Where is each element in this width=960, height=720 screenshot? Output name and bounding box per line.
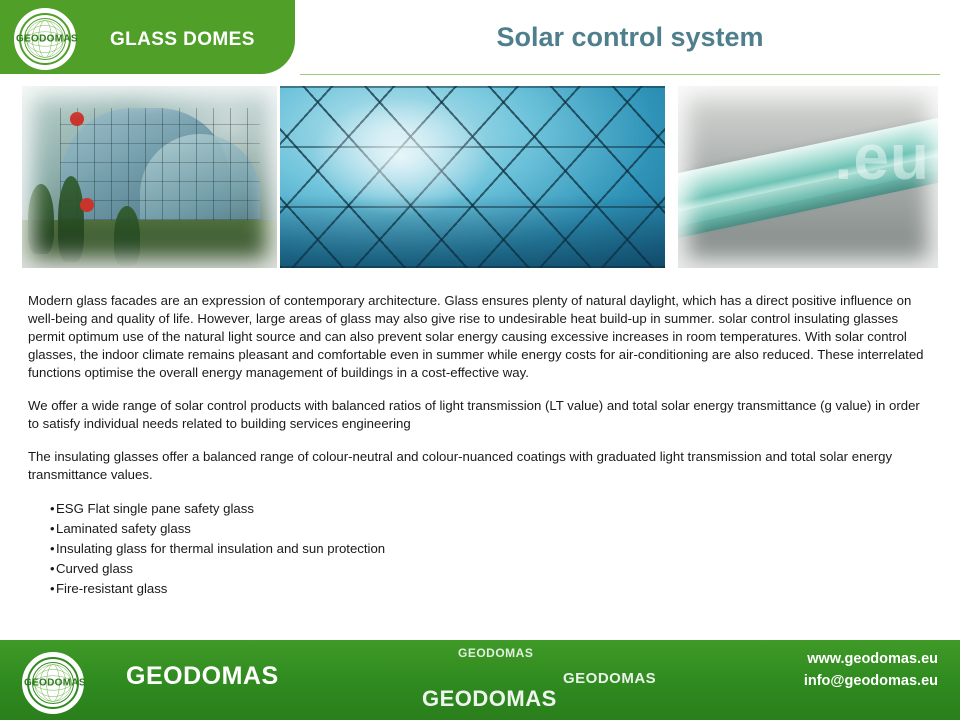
photo2-shadow — [280, 195, 665, 268]
footer-logo-wordmark: GEODOMAS — [24, 678, 82, 689]
footer-wordmark-1: GEODOMAS — [126, 662, 279, 691]
header-brand-label: GLASS DOMES — [110, 29, 255, 51]
list-item: ESG Flat single pane safety glass — [28, 499, 928, 519]
footer-geodomas-logo: GEODOMAS — [22, 652, 84, 714]
slide-header: GEODOMAS GLASS DOMES Solar control syste… — [0, 0, 960, 78]
photo1-tree — [58, 176, 84, 262]
list-item: Laminated safety glass — [28, 519, 928, 539]
image-strip: .eu — [0, 86, 960, 268]
list-item: Curved glass — [28, 559, 928, 579]
body-paragraph-3: The insulating glasses offer a balanced … — [28, 448, 928, 484]
footer-website-link[interactable]: www.geodomas.eu — [804, 648, 938, 670]
photo3-watermark: .eu — [835, 120, 930, 194]
page-title: Solar control system — [330, 22, 930, 53]
footer-wordmark-3: GEODOMAS — [563, 670, 656, 687]
slide-body: Modern glass facades are an expression o… — [28, 292, 928, 599]
footer-wordmark-2: GEODOMAS — [422, 686, 557, 712]
geodomas-logo: GEODOMAS — [14, 8, 76, 70]
logo-wordmark: GEODOMAS — [16, 34, 74, 45]
footer-contact-block: www.geodomas.eu info@geodomas.eu — [804, 648, 938, 692]
photo1-red-flower — [80, 198, 94, 212]
insulating-glass-pane-edge-photo: .eu — [678, 86, 938, 268]
geodesic-glass-dome-interior-photo — [280, 86, 665, 268]
photo1-tree — [28, 184, 54, 254]
list-item: Fire-resistant glass — [28, 579, 928, 599]
body-paragraph-2: We offer a wide range of solar control p… — [28, 397, 928, 433]
header-divider — [300, 74, 940, 75]
footer-wordmark-4: GEODOMAS — [458, 646, 533, 660]
photo1-red-flower — [70, 112, 84, 126]
slide-root: GEODOMAS GLASS DOMES Solar control syste… — [0, 0, 960, 720]
product-bullet-list: ESG Flat single pane safety glass Lamina… — [28, 499, 928, 599]
body-paragraph-1: Modern glass facades are an expression o… — [28, 292, 928, 382]
glass-facade-building-photo — [22, 86, 277, 268]
list-item: Insulating glass for thermal insulation … — [28, 539, 928, 559]
footer-email-link[interactable]: info@geodomas.eu — [804, 670, 938, 692]
photo1-tree — [114, 206, 140, 266]
